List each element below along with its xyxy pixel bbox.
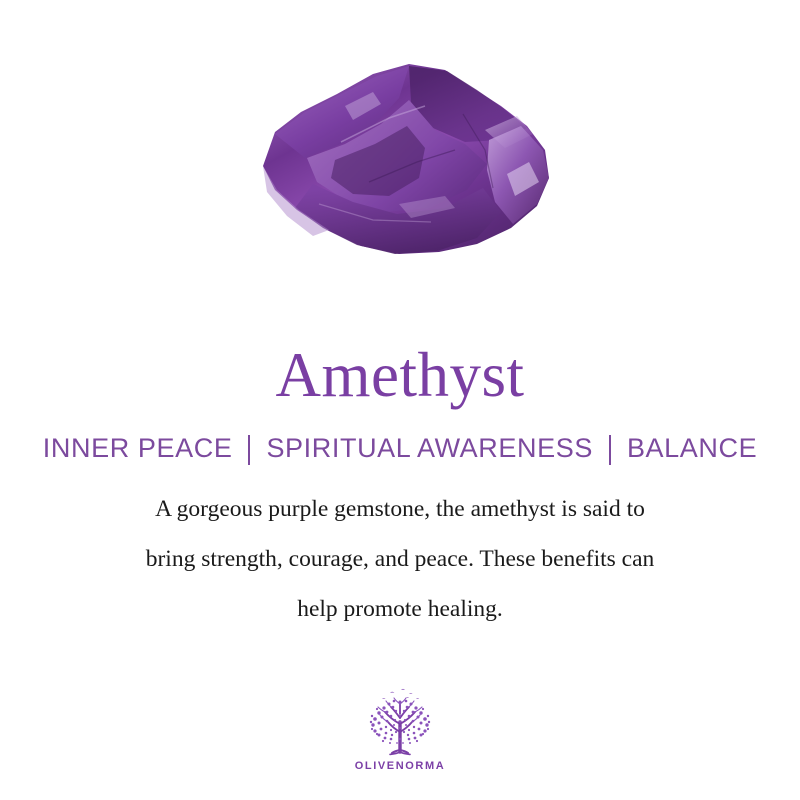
brand-logo: OLIVENORMA <box>0 688 800 772</box>
page-title: Amethyst <box>276 344 525 407</box>
description-line: help promote healing. <box>40 584 760 634</box>
keyword-list: INNER PEACE SPIRITUAL AWARENESS BALANCE <box>41 433 759 464</box>
keyword-separator <box>609 435 611 465</box>
description-line: A gorgeous purple gemstone, the amethyst… <box>40 484 760 534</box>
amethyst-stone-image <box>249 54 559 264</box>
keyword-balance: BALANCE <box>625 433 759 464</box>
tree-of-life-icon <box>360 688 440 756</box>
product-description: A gorgeous purple gemstone, the amethyst… <box>40 484 760 634</box>
product-card: Amethyst INNER PEACE SPIRITUAL AWARENESS… <box>0 0 800 800</box>
brand-name: OLIVENORMA <box>355 760 446 772</box>
product-image-area <box>0 0 800 300</box>
keyword-inner-peace: INNER PEACE <box>41 433 235 464</box>
keyword-separator <box>248 435 250 465</box>
description-line: bring strength, courage, and peace. Thes… <box>40 534 760 584</box>
amethyst-stone-icon <box>249 54 559 264</box>
tree-birds <box>382 689 419 699</box>
keyword-spiritual-awareness: SPIRITUAL AWARENESS <box>264 433 594 464</box>
